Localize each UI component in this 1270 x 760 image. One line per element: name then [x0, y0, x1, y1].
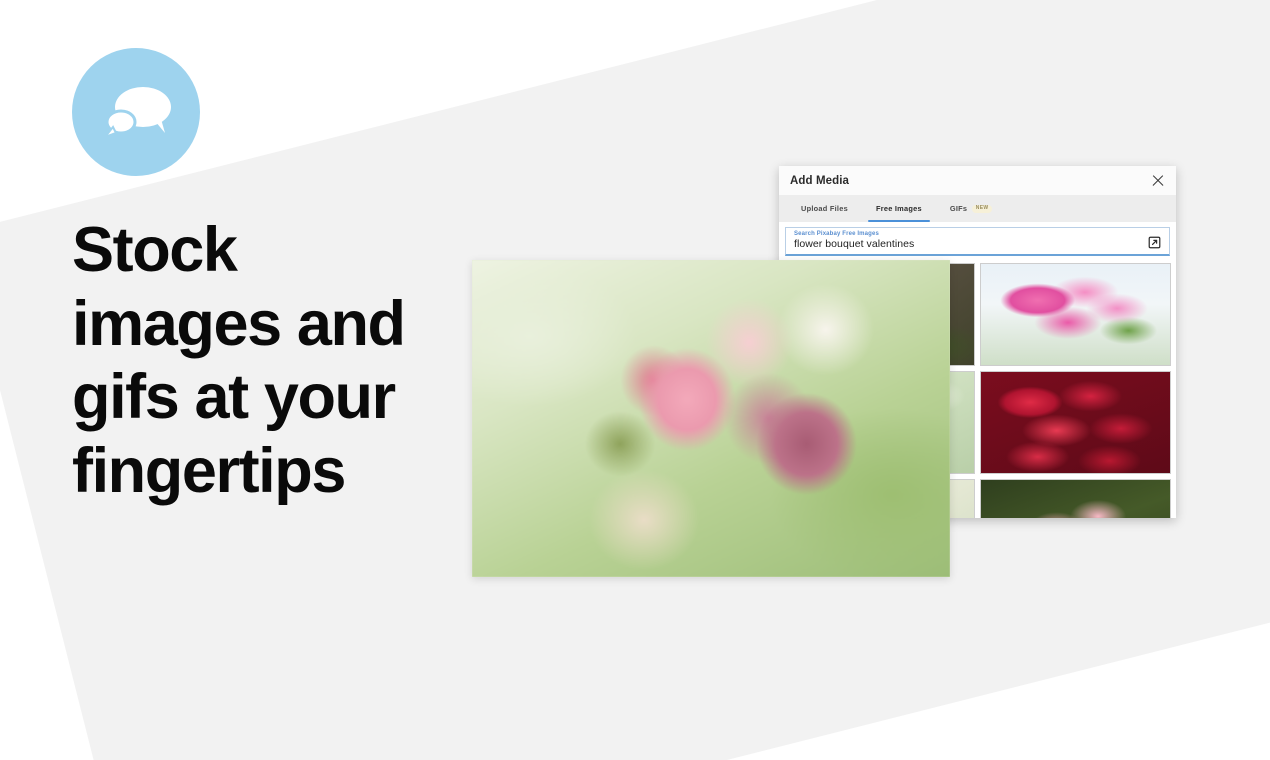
tab-upload-files-label: Upload Files — [801, 204, 848, 213]
tab-upload-files[interactable]: Upload Files — [787, 195, 862, 222]
new-badge: NEW — [972, 205, 992, 213]
thumbnail-image — [981, 372, 1170, 473]
slide-canvas: Stock images and gifs at your fingertips… — [0, 0, 1270, 760]
search-input[interactable]: Search Pixabay Free Images flower bouque… — [785, 227, 1170, 256]
tab-gifs-label: GIFs — [950, 204, 967, 213]
tab-free-images[interactable]: Free Images — [862, 195, 936, 222]
rose-bouquet-image — [472, 260, 950, 577]
close-icon[interactable] — [1150, 173, 1166, 189]
rose-bouquet-photo — [472, 260, 950, 577]
dialog-title: Add Media — [790, 175, 849, 187]
search-area: Search Pixabay Free Images flower bouque… — [779, 222, 1176, 260]
search-input-label: Search Pixabay Free Images — [794, 231, 1142, 237]
search-input-texts: Search Pixabay Free Images flower bouque… — [794, 231, 1142, 250]
speech-bubbles-icon — [99, 83, 173, 141]
search-input-value: flower bouquet valentines — [794, 238, 1142, 250]
tab-free-images-label: Free Images — [876, 204, 922, 213]
page-title: Stock images and gifs at your fingertips — [72, 214, 452, 509]
brand-logo — [72, 48, 200, 176]
tab-gifs[interactable]: GIFs NEW — [936, 195, 1006, 222]
thumbnail-red-roses-closeup[interactable] — [980, 371, 1171, 474]
dialog-tabs: Upload Files Free Images GIFs NEW — [779, 195, 1176, 222]
dialog-header: Add Media — [779, 166, 1176, 195]
thumbnail-image — [981, 264, 1170, 365]
thumbnail-image — [981, 480, 1170, 518]
external-link-icon[interactable] — [1148, 236, 1161, 249]
hero-text-column: Stock images and gifs at your fingertips — [72, 48, 492, 509]
thumbnail-pink-roses-in-vase[interactable] — [980, 263, 1171, 366]
thumbnail-pink-carnations[interactable] — [980, 479, 1171, 518]
